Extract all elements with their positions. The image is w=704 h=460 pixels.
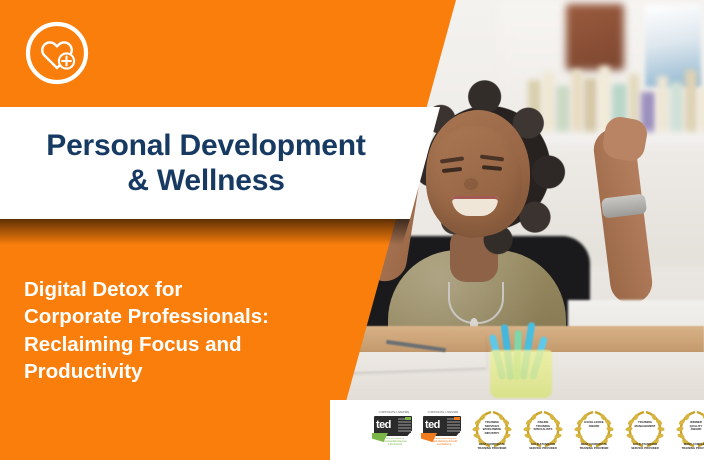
heart-with-medical-cross-icon [24, 20, 90, 86]
nose [464, 178, 478, 190]
laurel-badge-caption: MOST COMPLETE TRAINING PROVIDER [677, 443, 704, 451]
ted-badge-caption: Creative Advertising and Digital Marketi… [427, 438, 461, 448]
laurel-badge-1[interactable]: TRAINING SERVICES WORLDWIDE INDUSTRY EXP… [470, 408, 514, 452]
ted-badge-top-line: CORPORATE LIVEWIRE [376, 411, 412, 415]
laurel-badge-caption: BEST CORPORATE TRAINING PROVIDER [575, 443, 613, 451]
page-title: Personal Development & Wellness [38, 128, 391, 199]
laurel-badge-caption: GOLD STANDARD SERVICE PROVIDER [626, 443, 664, 451]
ted-badge-top-line: CORPORATE LIVEWIRE [425, 411, 461, 415]
ted-badge-wordmark: ted [376, 420, 391, 431]
ted-badge-green[interactable]: CORPORATE LIVEWIRE ted Communication & P… [372, 411, 414, 449]
pen-cup [490, 350, 552, 398]
ted-badge-accent-tick [454, 417, 460, 420]
laurel-badge-3[interactable]: EXCELLENCE AWARD BEST CORPORATE TRAINING… [572, 408, 616, 452]
laurel-badge-caption: BEST CORPORATE TRAINING PROVIDER [473, 443, 511, 451]
laurel-badge-title: TRAINING MANAGEMENT [632, 421, 658, 434]
ted-badge-caption: Communication & Personal Effectiveness &… [378, 438, 412, 448]
brand-logo[interactable] [24, 20, 90, 86]
laurel-badge-5[interactable]: WINNER QUALITY AWARD MOST COMPLETE TRAIN… [674, 408, 704, 452]
laurel-badge-title: TRAINING SERVICES WORLDWIDE INDUSTRY EXP… [479, 421, 505, 434]
course-promo-banner: Personal Development & Wellness Digital … [0, 0, 704, 460]
laurel-badge-title: WINNER QUALITY AWARD [683, 421, 704, 434]
laurel-badge-title: ONLINE TRAINING SPECIALISTS [530, 421, 556, 434]
category-title-band: Personal Development & Wellness [0, 107, 440, 219]
ted-badge-grid [447, 418, 460, 433]
laurel-badge-4[interactable]: TRAINING MANAGEMENT GOLD STANDARD SERVIC… [623, 408, 667, 452]
course-title: Digital Detox for Corporate Professional… [24, 276, 342, 385]
laurel-badge-title: EXCELLENCE AWARD [581, 421, 607, 434]
laurel-badge-2[interactable]: ONLINE TRAINING SPECIALISTS GOLD STANDAR… [521, 408, 565, 452]
ted-badge-wordmark: ted [425, 420, 440, 431]
laurel-badge-caption: GOLD STANDARD SERVICE PROVIDER [524, 443, 562, 451]
ted-badge-grid [398, 418, 411, 433]
ted-badge-orange[interactable]: CORPORATE LIVEWIRE ted Creative Advertis… [421, 411, 463, 449]
ted-badge-accent-tick [405, 417, 411, 420]
award-badge-strip: CORPORATE LIVEWIRE ted Communication & P… [330, 400, 704, 460]
